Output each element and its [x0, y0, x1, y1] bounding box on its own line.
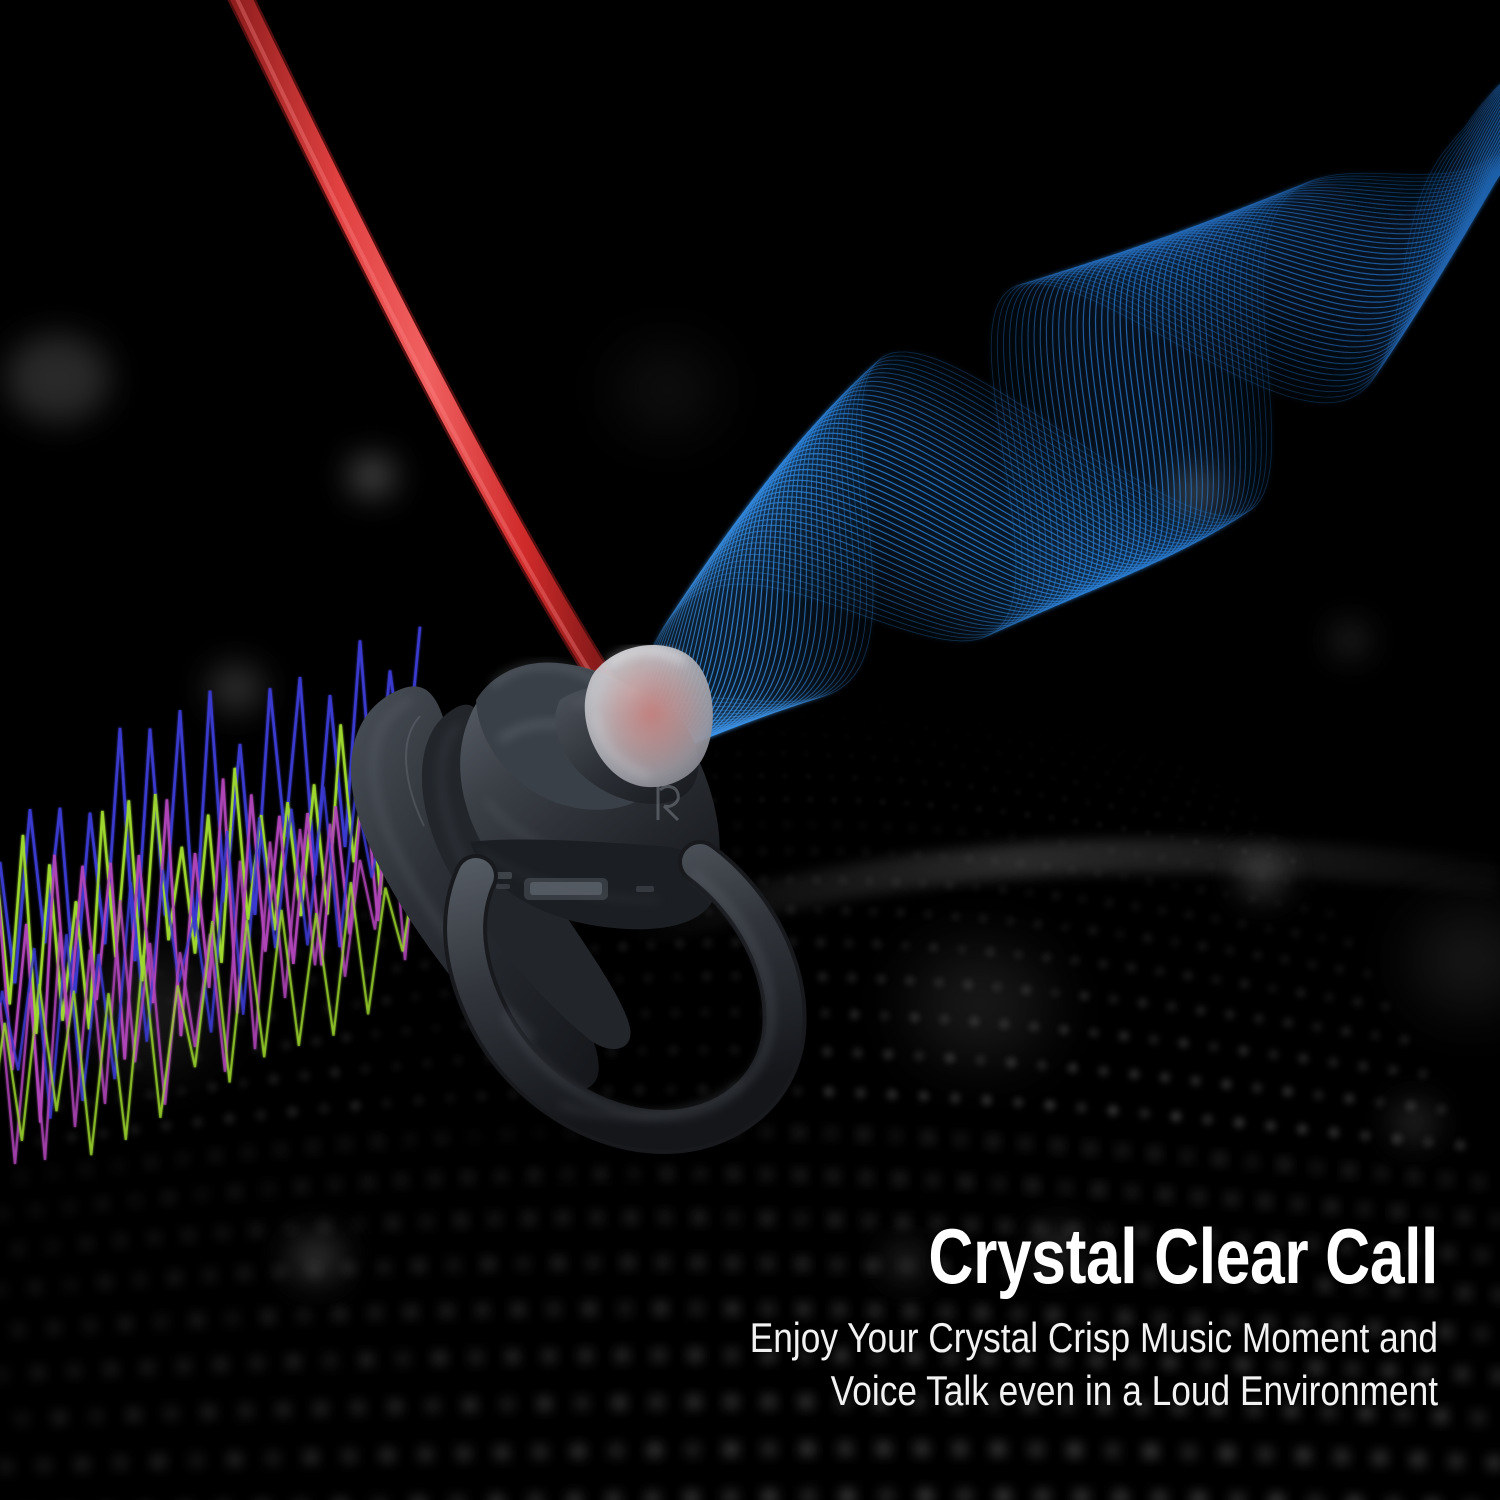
subtitle-line-1: Enjoy Your Crystal Crisp Music Moment an…: [716, 1311, 1438, 1365]
product-hero-banner: Crystal Clear Call Enjoy Your Crystal Cr…: [0, 0, 1500, 1500]
page-title: Crystal Clear Call: [750, 1218, 1438, 1294]
marketing-copy-block: Crystal Clear Call Enjoy Your Crystal Cr…: [578, 1218, 1438, 1418]
subtitle-line-2: Voice Talk even in a Loud Environment: [716, 1364, 1438, 1418]
